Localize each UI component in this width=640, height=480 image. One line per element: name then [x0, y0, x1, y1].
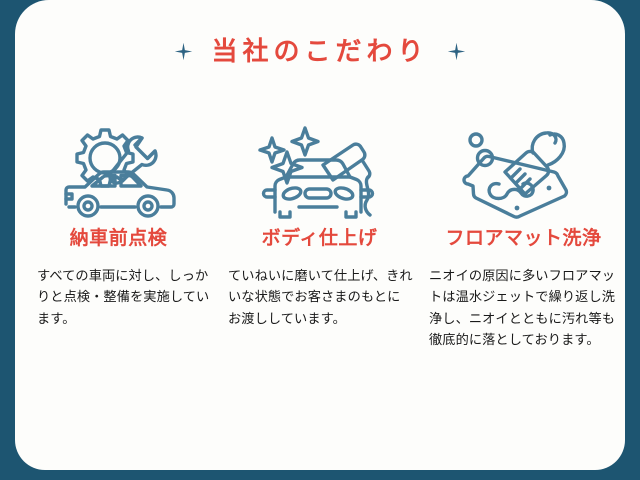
feature-icon-wrap	[226, 118, 413, 222]
feature-body: ニオイの原因に多いフロアマットは温水ジェットで繰り返し洗浄し、ニオイとともに汚れ…	[429, 265, 618, 351]
car-polish-sparkle-icon	[250, 120, 390, 220]
floor-mat-brush-icon	[454, 120, 594, 220]
feature-heading: 納車前点検	[27, 228, 210, 251]
feature-body: すべての車両に対し、しっかりと点検・整備を実施しています。	[27, 265, 210, 329]
feature-heading: ボディ仕上げ	[226, 228, 413, 251]
feature-columns: 納車前点検 すべての車両に対し、しっかりと点検・整備を実施しています。	[15, 118, 625, 350]
page-title: 当社のこだわり	[211, 38, 428, 64]
feature-column-matwash: フロアマット洗浄 ニオイの原因に多いフロアマットは温水ジェットで繰り返し洗浄し、…	[421, 118, 624, 350]
feature-icon-wrap	[27, 118, 210, 222]
outer-frame: 当社のこだわり	[0, 0, 640, 480]
feature-heading: フロアマット洗浄	[429, 228, 618, 251]
feature-column-polish: ボディ仕上げ ていねいに磨いて仕上げ、きれいな状態でお客さまのもとにお渡ししてい…	[218, 118, 421, 329]
content-panel: 当社のこだわり	[15, 0, 625, 470]
sparkle-icon	[174, 42, 193, 61]
sparkle-icon	[447, 42, 466, 61]
feature-icon-wrap	[429, 118, 618, 222]
feature-body: ていねいに磨いて仕上げ、きれいな状態でお客さまのもとにお渡ししています。	[226, 265, 413, 329]
feature-column-inspection: 納車前点検 すべての車両に対し、しっかりと点検・整備を実施しています。	[15, 118, 218, 329]
title-row: 当社のこだわり	[15, 38, 625, 64]
car-gear-wrench-icon	[49, 120, 189, 220]
